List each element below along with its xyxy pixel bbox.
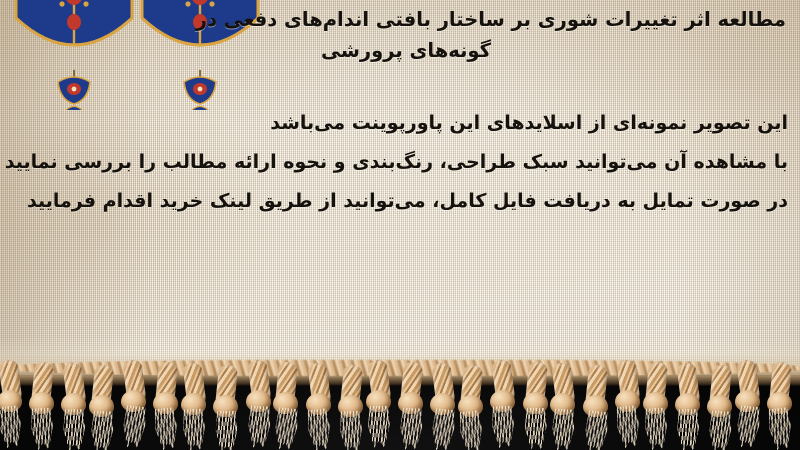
slide-title: مطالعه اثر تغییرات شوری بر ساختار بافتی … bbox=[226, 4, 786, 66]
slide-body-line-3: در صورت تمایل به دریافت فایل کامل، می‌تو… bbox=[2, 182, 788, 221]
slide-body-line-1: این تصویر نمونه‌ای از اسلایدهای این پاور… bbox=[2, 104, 788, 143]
presentation-slide: مطالعه اثر تغییرات شوری بر ساختار بافتی … bbox=[0, 0, 800, 450]
slide-title-line-1: مطالعه اثر تغییرات شوری بر ساختار بافتی … bbox=[226, 4, 786, 35]
slide-title-line-2: گونه‌های پرورشی bbox=[226, 35, 786, 66]
slide-body-line-2: با مشاهده آن می‌توانید سبک طراحی، رنگ‌بن… bbox=[2, 143, 788, 182]
slide-body: این تصویر نمونه‌ای از اسلایدهای این پاور… bbox=[2, 104, 788, 221]
slide-text-layer: مطالعه اثر تغییرات شوری بر ساختار بافتی … bbox=[0, 0, 800, 450]
